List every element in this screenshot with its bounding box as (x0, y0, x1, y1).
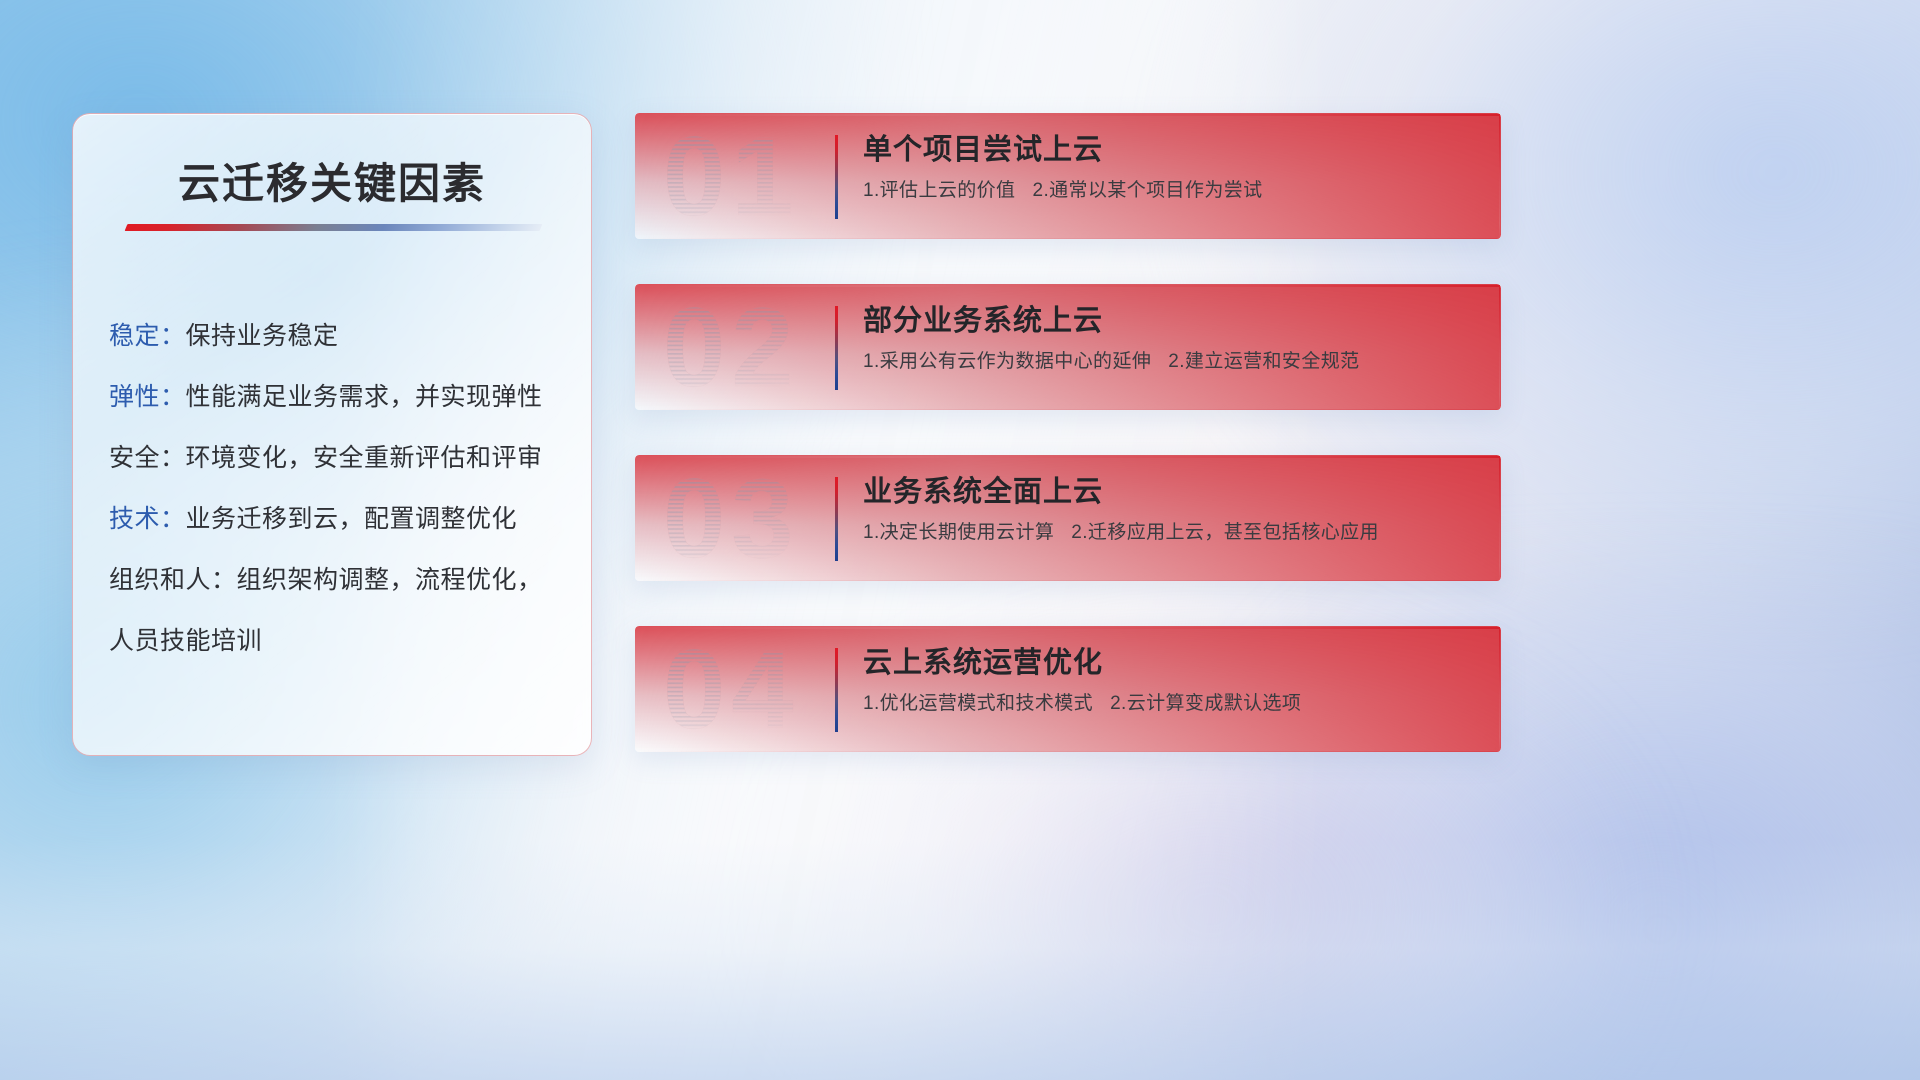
svg-text:04: 04 (663, 632, 800, 746)
factor-item-security: 安全：环境变化，安全重新评估和评审 (109, 428, 567, 489)
card-body: 业务系统全面上云 1.决定长期使用云计算 2.迁移应用上云，甚至包括核心应用 (863, 471, 1477, 549)
step-description: 1.采用公有云作为数据中心的延伸 2.建立运营和安全规范 (863, 346, 1477, 378)
factor-label: 弹性： (109, 383, 186, 411)
step-title: 部分业务系统上云 (863, 300, 1477, 342)
svg-text:02: 02 (663, 290, 800, 404)
card-body: 部分业务系统上云 1.采用公有云作为数据中心的延伸 2.建立运营和安全规范 (863, 300, 1477, 378)
factor-text: 保持业务稳定 (186, 322, 339, 350)
card-accent-bar (835, 477, 838, 561)
factor-label: 安全： (109, 444, 186, 472)
card-body: 单个项目尝试上云 1.评估上云的价值 2.通常以某个项目作为尝试 (863, 129, 1477, 207)
step-title: 云上系统运营优化 (863, 642, 1477, 684)
factor-label: 技术： (109, 505, 186, 533)
step-number-02-icon: 02 02 (663, 290, 863, 404)
step-number-01-icon: 01 01 (663, 119, 863, 233)
factor-label: 稳定： (109, 322, 186, 350)
factor-text: 环境变化，安全重新评估和评审 (186, 444, 543, 472)
factor-item-technology: 技术：业务迁移到云，配置调整优化 (109, 489, 567, 550)
step-card-01[interactable]: 01 01 单个项目尝试上云 1.评估上云的价值 2.通常以某个项目作为尝试 (635, 113, 1501, 239)
step-description: 1.决定长期使用云计算 2.迁移应用上云，甚至包括核心应用 (863, 517, 1477, 549)
title-underline-accent (125, 224, 543, 231)
step-card-02[interactable]: 02 02 部分业务系统上云 1.采用公有云作为数据中心的延伸 2.建立运营和安… (635, 284, 1501, 410)
factor-text: 业务迁移到云，配置调整优化 (186, 505, 518, 533)
step-number-03-icon: 03 03 (663, 461, 863, 575)
factor-text: 性能满足业务需求，并实现弹性 (186, 383, 543, 411)
panel-title: 云迁移关键因素 (73, 150, 591, 211)
card-accent-bar (835, 135, 838, 219)
factor-item-elasticity: 弹性：性能满足业务需求，并实现弹性 (109, 367, 567, 428)
key-factors-panel: 云迁移关键因素 稳定：保持业务稳定 弹性：性能满足业务需求，并实现弹性 安全：环… (72, 113, 592, 756)
factor-item-stability: 稳定：保持业务稳定 (109, 306, 567, 367)
factor-list: 稳定：保持业务稳定 弹性：性能满足业务需求，并实现弹性 安全：环境变化，安全重新… (109, 306, 567, 672)
step-title: 业务系统全面上云 (863, 471, 1477, 513)
svg-text:01: 01 (663, 119, 800, 233)
factor-item-organization-people: 组织和人：组织架构调整，流程优化，人员技能培训 (109, 550, 567, 672)
step-title: 单个项目尝试上云 (863, 129, 1477, 171)
step-description: 1.优化运营模式和技术模式 2.云计算变成默认选项 (863, 688, 1477, 720)
step-card-03[interactable]: 03 03 业务系统全面上云 1.决定长期使用云计算 2.迁移应用上云，甚至包括… (635, 455, 1501, 581)
step-card-04[interactable]: 04 04 云上系统运营优化 1.优化运营模式和技术模式 2.云计算变成默认选项 (635, 626, 1501, 752)
card-accent-bar (835, 648, 838, 732)
step-number-04-icon: 04 04 (663, 632, 863, 746)
card-body: 云上系统运营优化 1.优化运营模式和技术模式 2.云计算变成默认选项 (863, 642, 1477, 720)
card-accent-bar (835, 306, 838, 390)
slide-stage: 云迁移关键因素 稳定：保持业务稳定 弹性：性能满足业务需求，并实现弹性 安全：环… (0, 0, 1920, 1080)
svg-text:03: 03 (663, 461, 800, 575)
factor-label: 组织和人： (109, 566, 237, 594)
step-description: 1.评估上云的价值 2.通常以某个项目作为尝试 (863, 175, 1477, 207)
